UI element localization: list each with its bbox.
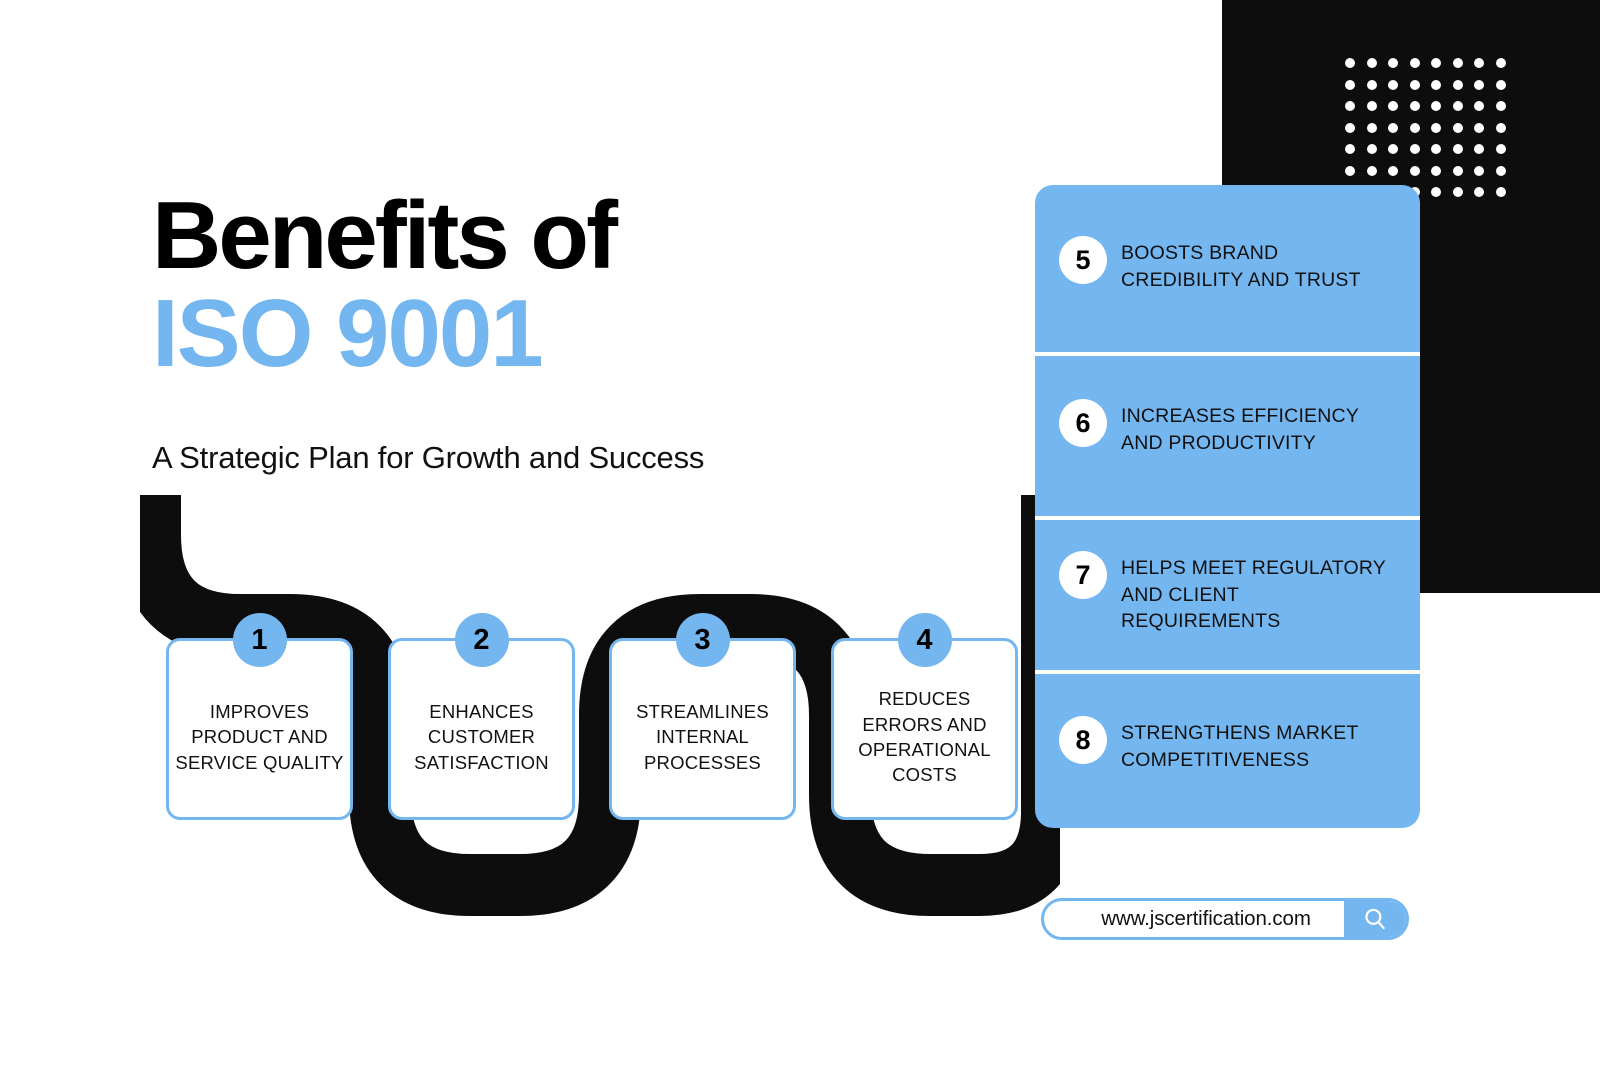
search-icon: [1362, 906, 1388, 932]
card-label-4: REDUCES ERRORS AND OPERATIONAL COSTS: [834, 686, 1015, 787]
card-label-2: ENHANCES CUSTOMER SATISFACTION: [391, 699, 572, 775]
row-number-badge-5: 5: [1059, 236, 1107, 284]
card-number-badge-2: 2: [455, 613, 509, 667]
card-number-badge-1: 1: [233, 613, 287, 667]
row-label-5: BOOSTS BRAND CREDIBILITY AND TRUST: [1121, 236, 1402, 293]
row-label-6: INCREASES EFFICIENCY AND PRODUCTIVITY: [1121, 399, 1402, 456]
url-text: www.jscertification.com: [1044, 907, 1344, 931]
benefit-card-3[interactable]: 3 STREAMLINES INTERNAL PROCESSES: [609, 638, 796, 820]
search-button[interactable]: [1344, 901, 1406, 937]
benefit-card-1[interactable]: 1 IMPROVES PRODUCT AND SERVICE QUALITY: [166, 638, 353, 820]
website-url-bar[interactable]: www.jscertification.com: [1041, 898, 1409, 940]
benefit-card-4[interactable]: 4 REDUCES ERRORS AND OPERATIONAL COSTS: [831, 638, 1018, 820]
benefit-card-2[interactable]: 2 ENHANCES CUSTOMER SATISFACTION: [388, 638, 575, 820]
card-label-1: IMPROVES PRODUCT AND SERVICE QUALITY: [169, 699, 350, 775]
row-number-badge-6: 6: [1059, 399, 1107, 447]
benefits-panel: 5 BOOSTS BRAND CREDIBILITY AND TRUST 6 I…: [1035, 185, 1420, 828]
row-number-badge-8: 8: [1059, 716, 1107, 764]
benefit-row-5[interactable]: 5 BOOSTS BRAND CREDIBILITY AND TRUST: [1035, 185, 1420, 352]
benefit-row-8[interactable]: 8 STRENGTHENS MARKET COMPETITIVENESS: [1035, 674, 1420, 828]
card-label-3: STREAMLINES INTERNAL PROCESSES: [612, 699, 793, 775]
card-number-badge-4: 4: [898, 613, 952, 667]
benefit-row-6[interactable]: 6 INCREASES EFFICIENCY AND PRODUCTIVITY: [1035, 356, 1420, 516]
infographic-canvas: Benefits of ISO 9001 A Strategic Plan fo…: [0, 0, 1600, 1067]
row-label-7: HELPS MEET REGULATORY AND CLIENT REQUIRE…: [1121, 551, 1402, 635]
row-number-badge-7: 7: [1059, 551, 1107, 599]
row-label-8: STRENGTHENS MARKET COMPETITIVENESS: [1121, 716, 1402, 773]
benefit-row-7[interactable]: 7 HELPS MEET REGULATORY AND CLIENT REQUI…: [1035, 520, 1420, 670]
card-number-badge-3: 3: [676, 613, 730, 667]
